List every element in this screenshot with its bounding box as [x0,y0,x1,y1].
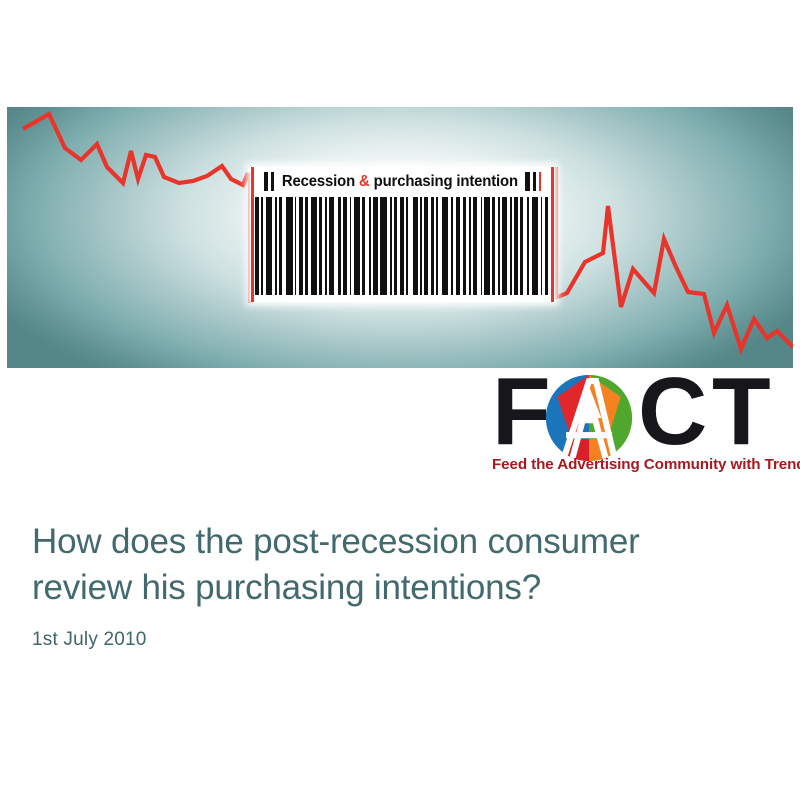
trend-line-left-mid [243,173,248,185]
caption-bar-right-1 [525,172,530,191]
caption-ampersand: & [359,173,370,190]
fact-logo: F C T [490,368,795,480]
barcode-red-edge-right [551,167,554,302]
trend-line-right [558,206,793,349]
barcode-bar [286,197,293,295]
trend-line-left [23,114,248,185]
logo-letter-c: C [638,368,705,456]
barcode-caption: Recession & purchasing intention [250,169,555,194]
logo-letter-f: F [492,368,549,456]
fact-wordmark: F C T [490,368,795,456]
caption-suffix: purchasing intention [369,173,517,190]
page-title: How does the post-recession consumer rev… [32,519,772,611]
caption-bar-right-2 [533,172,536,191]
logo-tagline: Feed the Advertising Community with Tren… [492,456,795,473]
caption-bar-left-2 [271,172,274,191]
barcode-panel: Recession & purchasing intention [250,167,555,302]
barcode-bars [255,197,550,295]
caption-bar-left-1 [264,172,268,191]
barcode-bar [380,197,387,295]
presentation-date: 1st July 2010 [32,629,772,651]
barcode-space [548,197,550,295]
title-block: How does the post-recession consumer rev… [32,519,772,651]
barcode-caption-text: Recession & purchasing intention [281,173,517,191]
logo-letter-a-icon [545,374,633,462]
logo-letter-t: T [712,368,769,456]
caption-prefix: Recession [281,173,358,190]
barcode-red-edge-left [251,167,254,302]
recession-banner: Recession & purchasing intention [7,107,793,368]
caption-bar-right-red [539,172,541,191]
trend-line-right-riser [556,167,558,297]
